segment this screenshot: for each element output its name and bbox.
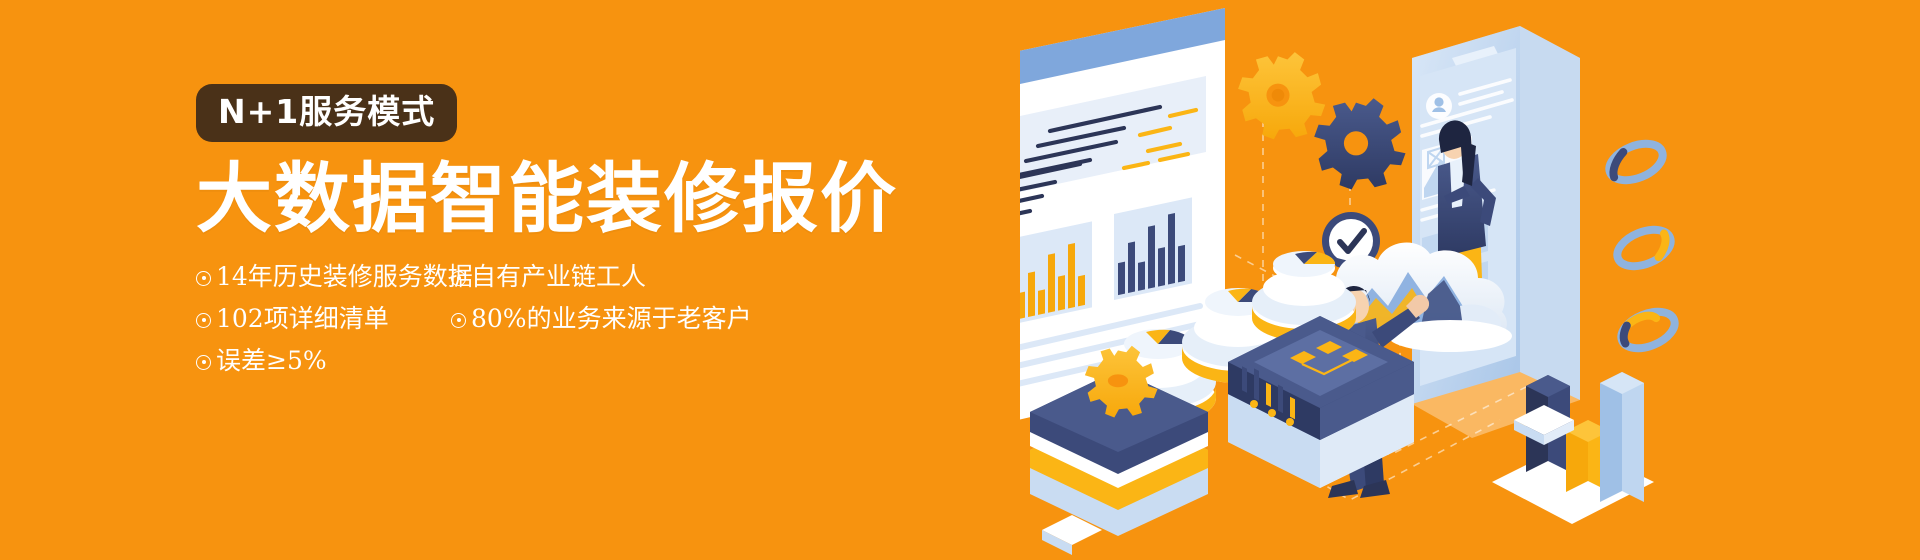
target-dot-icon	[451, 271, 466, 286]
copy-block: N+1服务模式 大数据智能装修报价 14年历史装修服务数据 102项详细清单 误…	[196, 84, 916, 264]
page-title: 大数据智能装修报价	[196, 160, 916, 238]
feature-label: 自有产业链工人	[471, 262, 646, 291]
target-dot-icon	[196, 313, 211, 328]
ring-chart-middle	[1612, 223, 1676, 274]
target-dot-icon	[196, 271, 211, 286]
feature-item: 80%的业务来源于老客户	[451, 306, 752, 331]
gear-navy	[1314, 98, 1405, 189]
smartphone-mockup	[1412, 26, 1580, 438]
bar-chart-pixel-orange	[1020, 221, 1092, 324]
feature-label: 102项详细清单	[216, 304, 389, 333]
feature-item: 14年历史装修服务数据	[196, 264, 473, 289]
target-dot-icon	[451, 313, 466, 328]
feature-item: 自有产业链工人	[451, 264, 646, 289]
feature-item: 102项详细清单	[196, 306, 389, 331]
ring-chart-top	[1604, 137, 1668, 188]
gear-yellow	[1238, 52, 1325, 139]
target-dot-icon	[196, 355, 211, 370]
promo-banner: N+1服务模式 大数据智能装修报价 14年历史装修服务数据 102项详细清单 误…	[0, 0, 1920, 560]
feature-label: 80%的业务来源于老客户	[471, 304, 752, 333]
feature-item: 误差≥5%	[196, 348, 327, 373]
hero-illustration	[1020, 0, 1920, 560]
service-model-badge: N+1服务模式	[196, 84, 457, 142]
feature-label: 14年历史装修服务数据	[216, 262, 473, 291]
bar-chart-pixel-navy	[1114, 197, 1192, 300]
feature-label: 误差≥5%	[216, 346, 327, 375]
ring-chart-bottom	[1616, 305, 1680, 356]
